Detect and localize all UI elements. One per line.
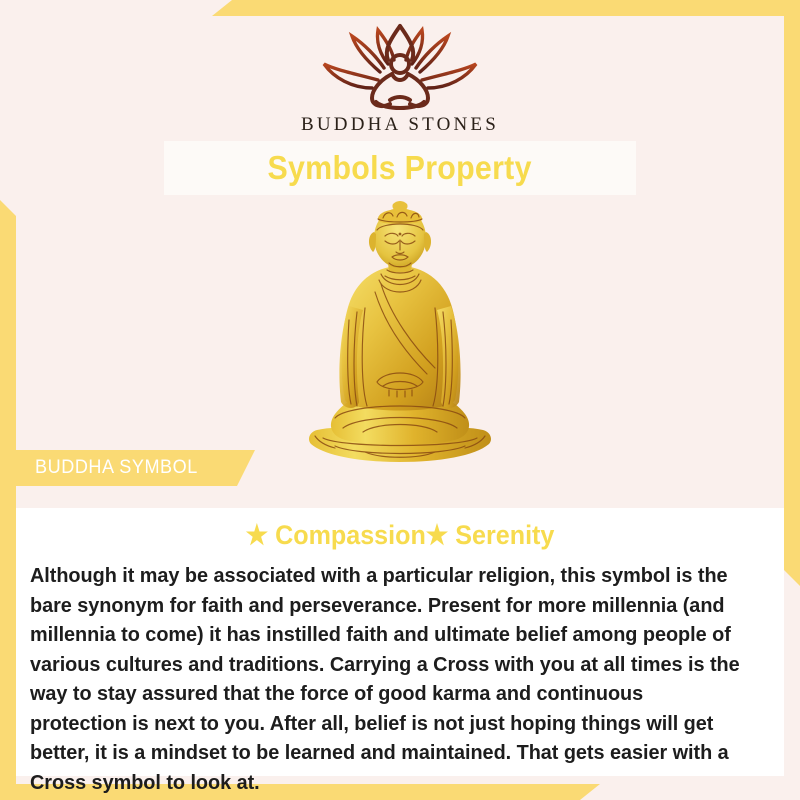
title-band: Symbols Property — [164, 141, 636, 195]
page-root: BUDDHA STONES Symbols Property — [0, 0, 800, 800]
seated-buddha-statue — [305, 200, 495, 492]
buddha-illustration — [305, 200, 495, 492]
content-panel: ★ Compassion★ Serenity Although it may b… — [16, 508, 784, 776]
decor-left-bar — [0, 200, 16, 800]
decor-top-bar — [212, 0, 800, 16]
lotus-meditation-icon — [310, 22, 490, 110]
page-title: Symbols Property — [268, 149, 532, 187]
buddha-symbol-tag-label: BUDDHA SYMBOL — [35, 457, 198, 479]
buddha-symbol-tag: BUDDHA SYMBOL — [16, 450, 255, 486]
traits-heading: ★ Compassion★ Serenity — [43, 520, 757, 551]
brand-logo: BUDDHA STONES — [0, 22, 800, 136]
description-paragraph: Although it may be associated with a par… — [30, 561, 744, 797]
brand-name: BUDDHA STONES — [301, 114, 499, 136]
